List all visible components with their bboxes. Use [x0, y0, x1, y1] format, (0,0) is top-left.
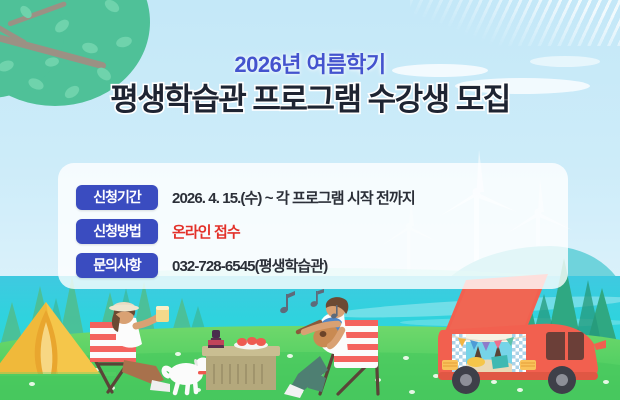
info-rows: 신청기간 2026. 4. 15.(수) ~ 각 프로그램 시작 전까지 신청방…	[76, 180, 556, 282]
banner-subtitle: 2026년 여름학기	[0, 52, 620, 77]
badge-inquiry: 문의사항	[76, 253, 158, 278]
picnic-table	[196, 330, 288, 396]
promotional-banner: 2026년 여름학기 평생학습관 프로그램 수강생 모집 신청기간 2026. …	[0, 0, 620, 400]
value-application-method: 온라인 접수	[172, 221, 240, 242]
info-row-inquiry: 문의사항 032-728-6545(평생학습관)	[76, 248, 556, 282]
value-application-period: 2026. 4. 15.(수) ~ 각 프로그램 시작 전까지	[172, 187, 415, 208]
info-row-application-method: 신청방법 온라인 접수	[76, 214, 556, 248]
badge-application-method: 신청방법	[76, 219, 158, 244]
music-note	[276, 288, 346, 324]
info-row-application-period: 신청기간 2026. 4. 15.(수) ~ 각 프로그램 시작 전까지	[76, 180, 556, 214]
dotted-texture-pattern	[410, 0, 620, 46]
value-inquiry: 032-728-6545(평생학습관)	[172, 255, 327, 276]
banner-main-title: 평생학습관 프로그램 수강생 모집	[0, 82, 620, 119]
title-block: 2026년 여름학기 평생학습관 프로그램 수강생 모집	[0, 52, 620, 119]
badge-application-period: 신청기간	[76, 185, 158, 210]
camper-van	[426, 272, 616, 397]
